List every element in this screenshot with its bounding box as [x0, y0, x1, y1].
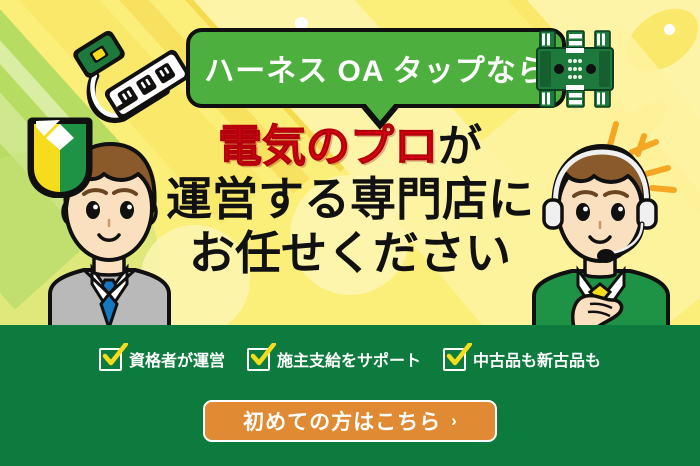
terminal-block-icon [533, 28, 617, 110]
wakaba-beginner-mark-icon [24, 116, 96, 198]
cta-label: 初めての方はこちら [243, 406, 441, 436]
feature-item: 資格者が運営 [99, 347, 225, 371]
checkbox-checked-icon [247, 348, 270, 371]
speech-bubble-tail [364, 102, 396, 121]
speech-bubble-text: ハーネス OA タップなら [204, 46, 548, 90]
bottom-feature-bar: 資格者が運営 施主支給をサポート 中古品も新古品も [0, 325, 700, 466]
support-staff-avatar [512, 120, 700, 328]
feature-label: 中古品も新古品も [473, 347, 601, 371]
speech-bubble: ハーネス OA タップなら [186, 28, 566, 108]
checkbox-checked-icon [99, 348, 122, 371]
feature-item: 施主支給をサポート [247, 347, 421, 371]
checkbox-checked-icon [443, 348, 466, 371]
bg-dot-white [664, 24, 675, 35]
headline-emphasis: 電気のプロ [218, 122, 438, 171]
promo-banner: ハーネス OA タップなら [0, 0, 700, 466]
feature-label: 施主支給をサポート [277, 347, 421, 371]
first-time-visitor-button[interactable]: 初めての方はこちら › [203, 400, 497, 442]
headline-line-1-suffix: が [438, 122, 482, 171]
chevron-right-icon: › [451, 411, 457, 431]
feature-item: 中古品も新古品も [443, 347, 601, 371]
feature-label: 資格者が運営 [129, 347, 225, 371]
feature-list: 資格者が運営 施主支給をサポート 中古品も新古品も [0, 337, 700, 381]
